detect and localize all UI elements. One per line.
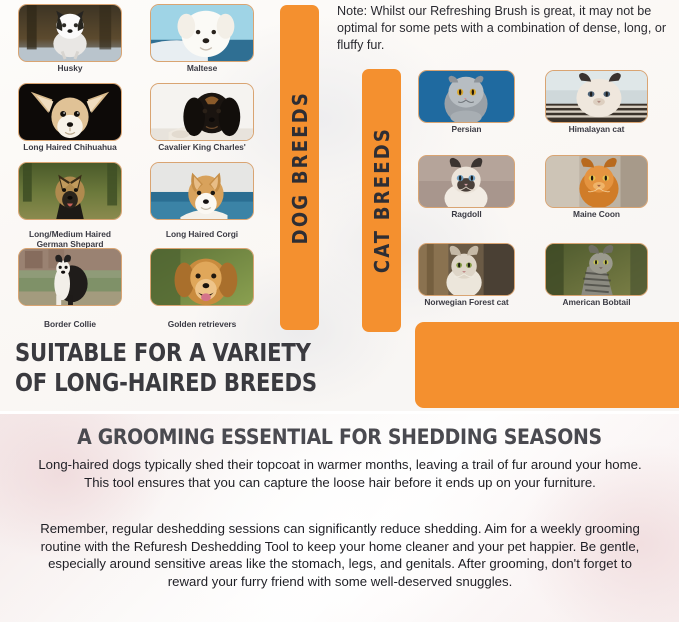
breed-label-himalayan: Himalayan cat bbox=[545, 125, 648, 135]
breed-label-golden-retriever: Golden retrievers bbox=[150, 320, 254, 330]
breed-card-persian[interactable] bbox=[418, 70, 515, 123]
himalayan-photo bbox=[546, 71, 647, 122]
orange-decorative-block bbox=[415, 322, 679, 408]
breed-label-corgi: Long Haired Corgi bbox=[150, 230, 254, 240]
breed-card-himalayan[interactable] bbox=[545, 70, 648, 123]
bottom-section: A GROOMING ESSENTIAL FOR SHEDDING SEASON… bbox=[0, 414, 679, 622]
german-shepard-photo bbox=[19, 163, 121, 219]
cavalier-photo bbox=[151, 84, 253, 140]
breed-label-ragdoll: Ragdoll bbox=[418, 210, 515, 220]
husky-photo bbox=[19, 5, 121, 61]
dog-breeds-banner: DOG BREEDS bbox=[280, 5, 319, 330]
chihuahua-photo bbox=[19, 84, 121, 140]
breed-card-chihuahua[interactable] bbox=[18, 83, 122, 141]
persian-photo bbox=[419, 71, 514, 122]
breed-label-husky: Husky bbox=[18, 64, 122, 74]
breed-card-husky[interactable] bbox=[18, 4, 122, 62]
breed-label-border-collie: Border Collie bbox=[18, 320, 122, 330]
breed-card-american-bobtail[interactable] bbox=[545, 243, 648, 296]
top-section: Husky Maltese bbox=[0, 0, 679, 411]
golden-retriever-photo bbox=[151, 249, 253, 305]
bottom-heading: A GROOMING ESSENTIAL FOR SHEDDING SEASON… bbox=[0, 425, 679, 449]
breed-card-corgi[interactable] bbox=[150, 162, 254, 220]
breed-card-maltese[interactable] bbox=[150, 4, 254, 62]
breed-card-golden-retriever[interactable] bbox=[150, 248, 254, 306]
body-paragraph-1: Long-haired dogs typically shed their to… bbox=[31, 456, 649, 491]
breed-label-american-bobtail: American Bobtail bbox=[545, 298, 648, 308]
note-text: Note: Whilst our Refreshing Brush is gre… bbox=[337, 3, 673, 54]
maltese-photo bbox=[151, 5, 253, 61]
breed-label-maltese: Maltese bbox=[150, 64, 254, 74]
breed-card-german-shepard[interactable] bbox=[18, 162, 122, 220]
breed-card-ragdoll[interactable] bbox=[418, 155, 515, 208]
maine-coon-photo bbox=[546, 156, 647, 207]
body-paragraph-2: Remember, regular deshedding sessions ca… bbox=[31, 520, 649, 590]
dog-breeds-banner-label: DOG BREEDS bbox=[288, 91, 312, 244]
breed-card-maine-coon[interactable] bbox=[545, 155, 648, 208]
american-bobtail-photo bbox=[546, 244, 647, 295]
breed-label-maine-coon: Maine Coon bbox=[545, 210, 648, 220]
breed-label-norwegian-forest: Norwegian Forest cat bbox=[410, 298, 523, 308]
breed-label-chihuahua: Long Haired Chihuahua bbox=[11, 143, 129, 153]
corgi-photo bbox=[151, 163, 253, 219]
breed-label-cavalier: Cavalier King Charles' bbox=[146, 143, 258, 153]
breed-label-german-shepard: Long/Medium Haired German Shepard bbox=[10, 230, 130, 250]
breed-label-persian: Persian bbox=[418, 125, 515, 135]
cat-breeds-banner-label: CAT BREEDS bbox=[370, 127, 394, 273]
breed-card-cavalier[interactable] bbox=[150, 83, 254, 141]
page-headline: SUITABLE FOR A VARIETY OF LONG-HAIRED BR… bbox=[15, 338, 339, 398]
breed-card-norwegian-forest[interactable] bbox=[418, 243, 515, 296]
border-collie-photo bbox=[19, 249, 121, 305]
breed-card-border-collie[interactable] bbox=[18, 248, 122, 306]
norwegian-forest-photo bbox=[419, 244, 514, 295]
ragdoll-photo bbox=[419, 156, 514, 207]
cat-breeds-banner: CAT BREEDS bbox=[362, 69, 401, 332]
